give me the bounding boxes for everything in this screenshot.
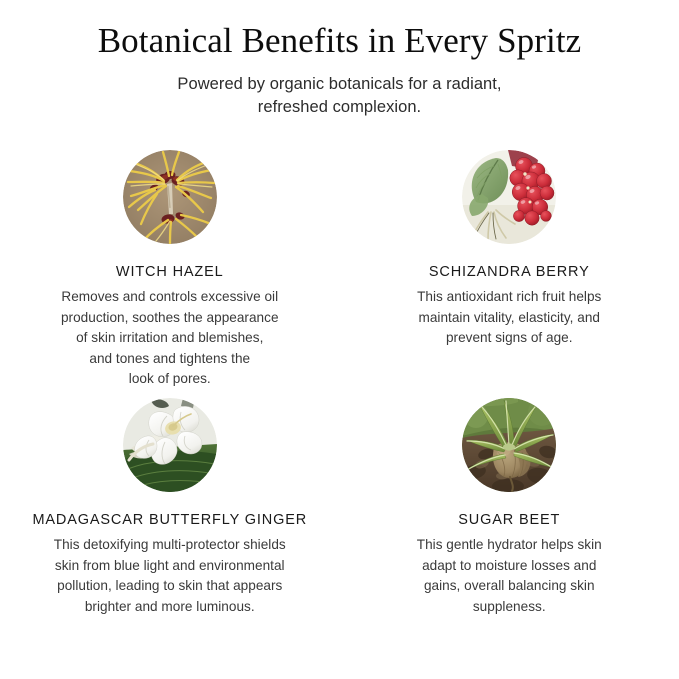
sugar-beet-photo (462, 398, 556, 492)
desc-line: adapt to moisture losses and (404, 556, 614, 577)
desc-line: look of pores. (45, 369, 295, 390)
ingredient-name: SUGAR BEET (458, 512, 560, 528)
ingredient-card-schizandra-berry: SCHIZANDRA BERRY This antioxidant rich f… (340, 150, 679, 390)
ingredient-description: This detoxifying multi-protector shields… (39, 535, 301, 617)
desc-line: Removes and controls excessive oil (45, 287, 295, 308)
desc-line: pollution, leading to skin that appears (39, 576, 301, 597)
ingredient-description: This gentle hydrator helps skin adapt to… (404, 535, 614, 617)
desc-line: brighter and more luminous. (39, 597, 301, 618)
ingredient-name: SCHIZANDRA BERRY (429, 264, 590, 280)
desc-line: This gentle hydrator helps skin (404, 535, 614, 556)
page-title: Botanical Benefits in Every Spritz (0, 20, 679, 62)
desc-line: prevent signs of age. (402, 328, 617, 349)
desc-line: gains, overall balancing skin (404, 576, 614, 597)
ingredient-row: WITCH HAZEL Removes and controls excessi… (0, 150, 679, 390)
ingredient-card-madagascar-butterfly-ginger: MADAGASCAR BUTTERFLY GINGER This detoxif… (0, 390, 340, 617)
page-subtitle-line-2: refreshed complexion. (125, 96, 555, 119)
ingredient-name: MADAGASCAR BUTTERFLY GINGER (32, 512, 307, 528)
botanical-benefits-infographic: Botanical Benefits in Every Spritz Power… (0, 0, 679, 679)
page-subtitle: Powered by organic botanicals for a radi… (125, 73, 555, 119)
desc-line: This detoxifying multi-protector shields (39, 535, 301, 556)
ingredient-grid: WITCH HAZEL Removes and controls excessi… (0, 150, 679, 617)
ingredient-description: This antioxidant rich fruit helps mainta… (402, 287, 617, 349)
ingredient-description: Removes and controls excessive oil produ… (45, 287, 295, 390)
sugar-beet-image-wrap (462, 398, 556, 492)
ingredient-card-witch-hazel: WITCH HAZEL Removes and controls excessi… (0, 150, 340, 390)
header: Botanical Benefits in Every Spritz Power… (0, 20, 679, 119)
desc-line: of skin irritation and blemishes, (45, 328, 295, 349)
ingredient-row: MADAGASCAR BUTTERFLY GINGER This detoxif… (0, 390, 679, 617)
witch-hazel-photo (123, 150, 217, 244)
madagascar-butterfly-ginger-image-wrap (123, 398, 217, 492)
desc-line: and tones and tightens the (45, 349, 295, 370)
desc-line: This antioxidant rich fruit helps (402, 287, 617, 308)
desc-line: maintain vitality, elasticity, and (402, 308, 617, 329)
desc-line: production, soothes the appearance (45, 308, 295, 329)
madagascar-butterfly-ginger-photo (123, 398, 217, 492)
ingredient-name: WITCH HAZEL (116, 264, 224, 280)
witch-hazel-image-wrap (123, 150, 217, 244)
desc-line: suppleness. (404, 597, 614, 618)
ingredient-card-sugar-beet: SUGAR BEET This gentle hydrator helps sk… (340, 390, 679, 617)
schizandra-berry-image-wrap (462, 150, 556, 244)
schizandra-berry-photo (462, 150, 556, 244)
desc-line: skin from blue light and environmental (39, 556, 301, 577)
page-subtitle-line-1: Powered by organic botanicals for a radi… (125, 73, 555, 96)
